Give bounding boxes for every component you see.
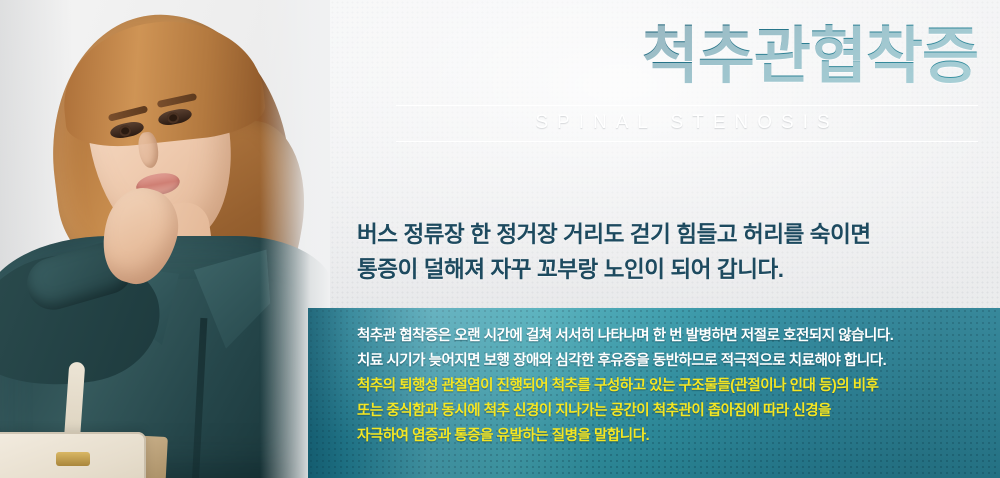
panel-line-2: 치료 시기가 늦어지면 보행 장애와 심각한 후유증을 동반하므로 적극적으로 … xyxy=(357,349,980,374)
title-block: 척추관협착증 SPINAL STENOSIS xyxy=(358,24,978,142)
headline-line-1: 버스 정류장 한 정거장 거리도 걷기 힘들고 허리를 숙이면 xyxy=(357,218,977,253)
description-panel: 척추관 협착증은 오랜 시간에 걸쳐 서서히 나타나며 한 번 발병하면 저절로… xyxy=(308,308,1000,478)
spinal-stenosis-banner: 척추관협착증 SPINAL STENOSIS 버스 정류장 한 정거장 거리도 … xyxy=(0,0,1000,478)
panel-line-3: 척추의 퇴행성 관절염이 진행되어 척추를 구성하고 있는 구조물들(관절이나 … xyxy=(357,374,980,399)
handbag-buckle-icon xyxy=(56,452,90,466)
iris-left xyxy=(118,124,132,137)
page-title: 척추관협착증 xyxy=(358,24,978,91)
panel-text-block: 척추관 협착증은 오랜 시간에 걸쳐 서서히 나타나며 한 번 발병하면 저절로… xyxy=(357,324,980,449)
panel-line-1: 척추관 협착증은 오랜 시간에 걸쳐 서서히 나타나며 한 번 발병하면 저절로… xyxy=(357,324,980,349)
panel-line-4: 또는 중식함과 동시에 척추 신경이 지나가는 공간이 척추관이 좁아짐에 따라… xyxy=(357,399,980,424)
page-subtitle: SPINAL STENOSIS xyxy=(358,112,978,134)
headline: 버스 정류장 한 정거장 거리도 걷기 힘들고 허리를 숙이면 통증이 덜해져 … xyxy=(357,218,977,288)
woman-holding-neck-photo xyxy=(0,0,330,478)
iris-right xyxy=(166,111,180,124)
headline-line-2: 통증이 덜해져 자꾸 꼬부랑 노인이 되어 갑니다. xyxy=(357,253,977,288)
panel-line-5: 자극하여 염증과 통증을 유발하는 질병을 말합니다. xyxy=(357,424,980,449)
subtitle-rule-wrapper: SPINAL STENOSIS xyxy=(358,105,978,142)
